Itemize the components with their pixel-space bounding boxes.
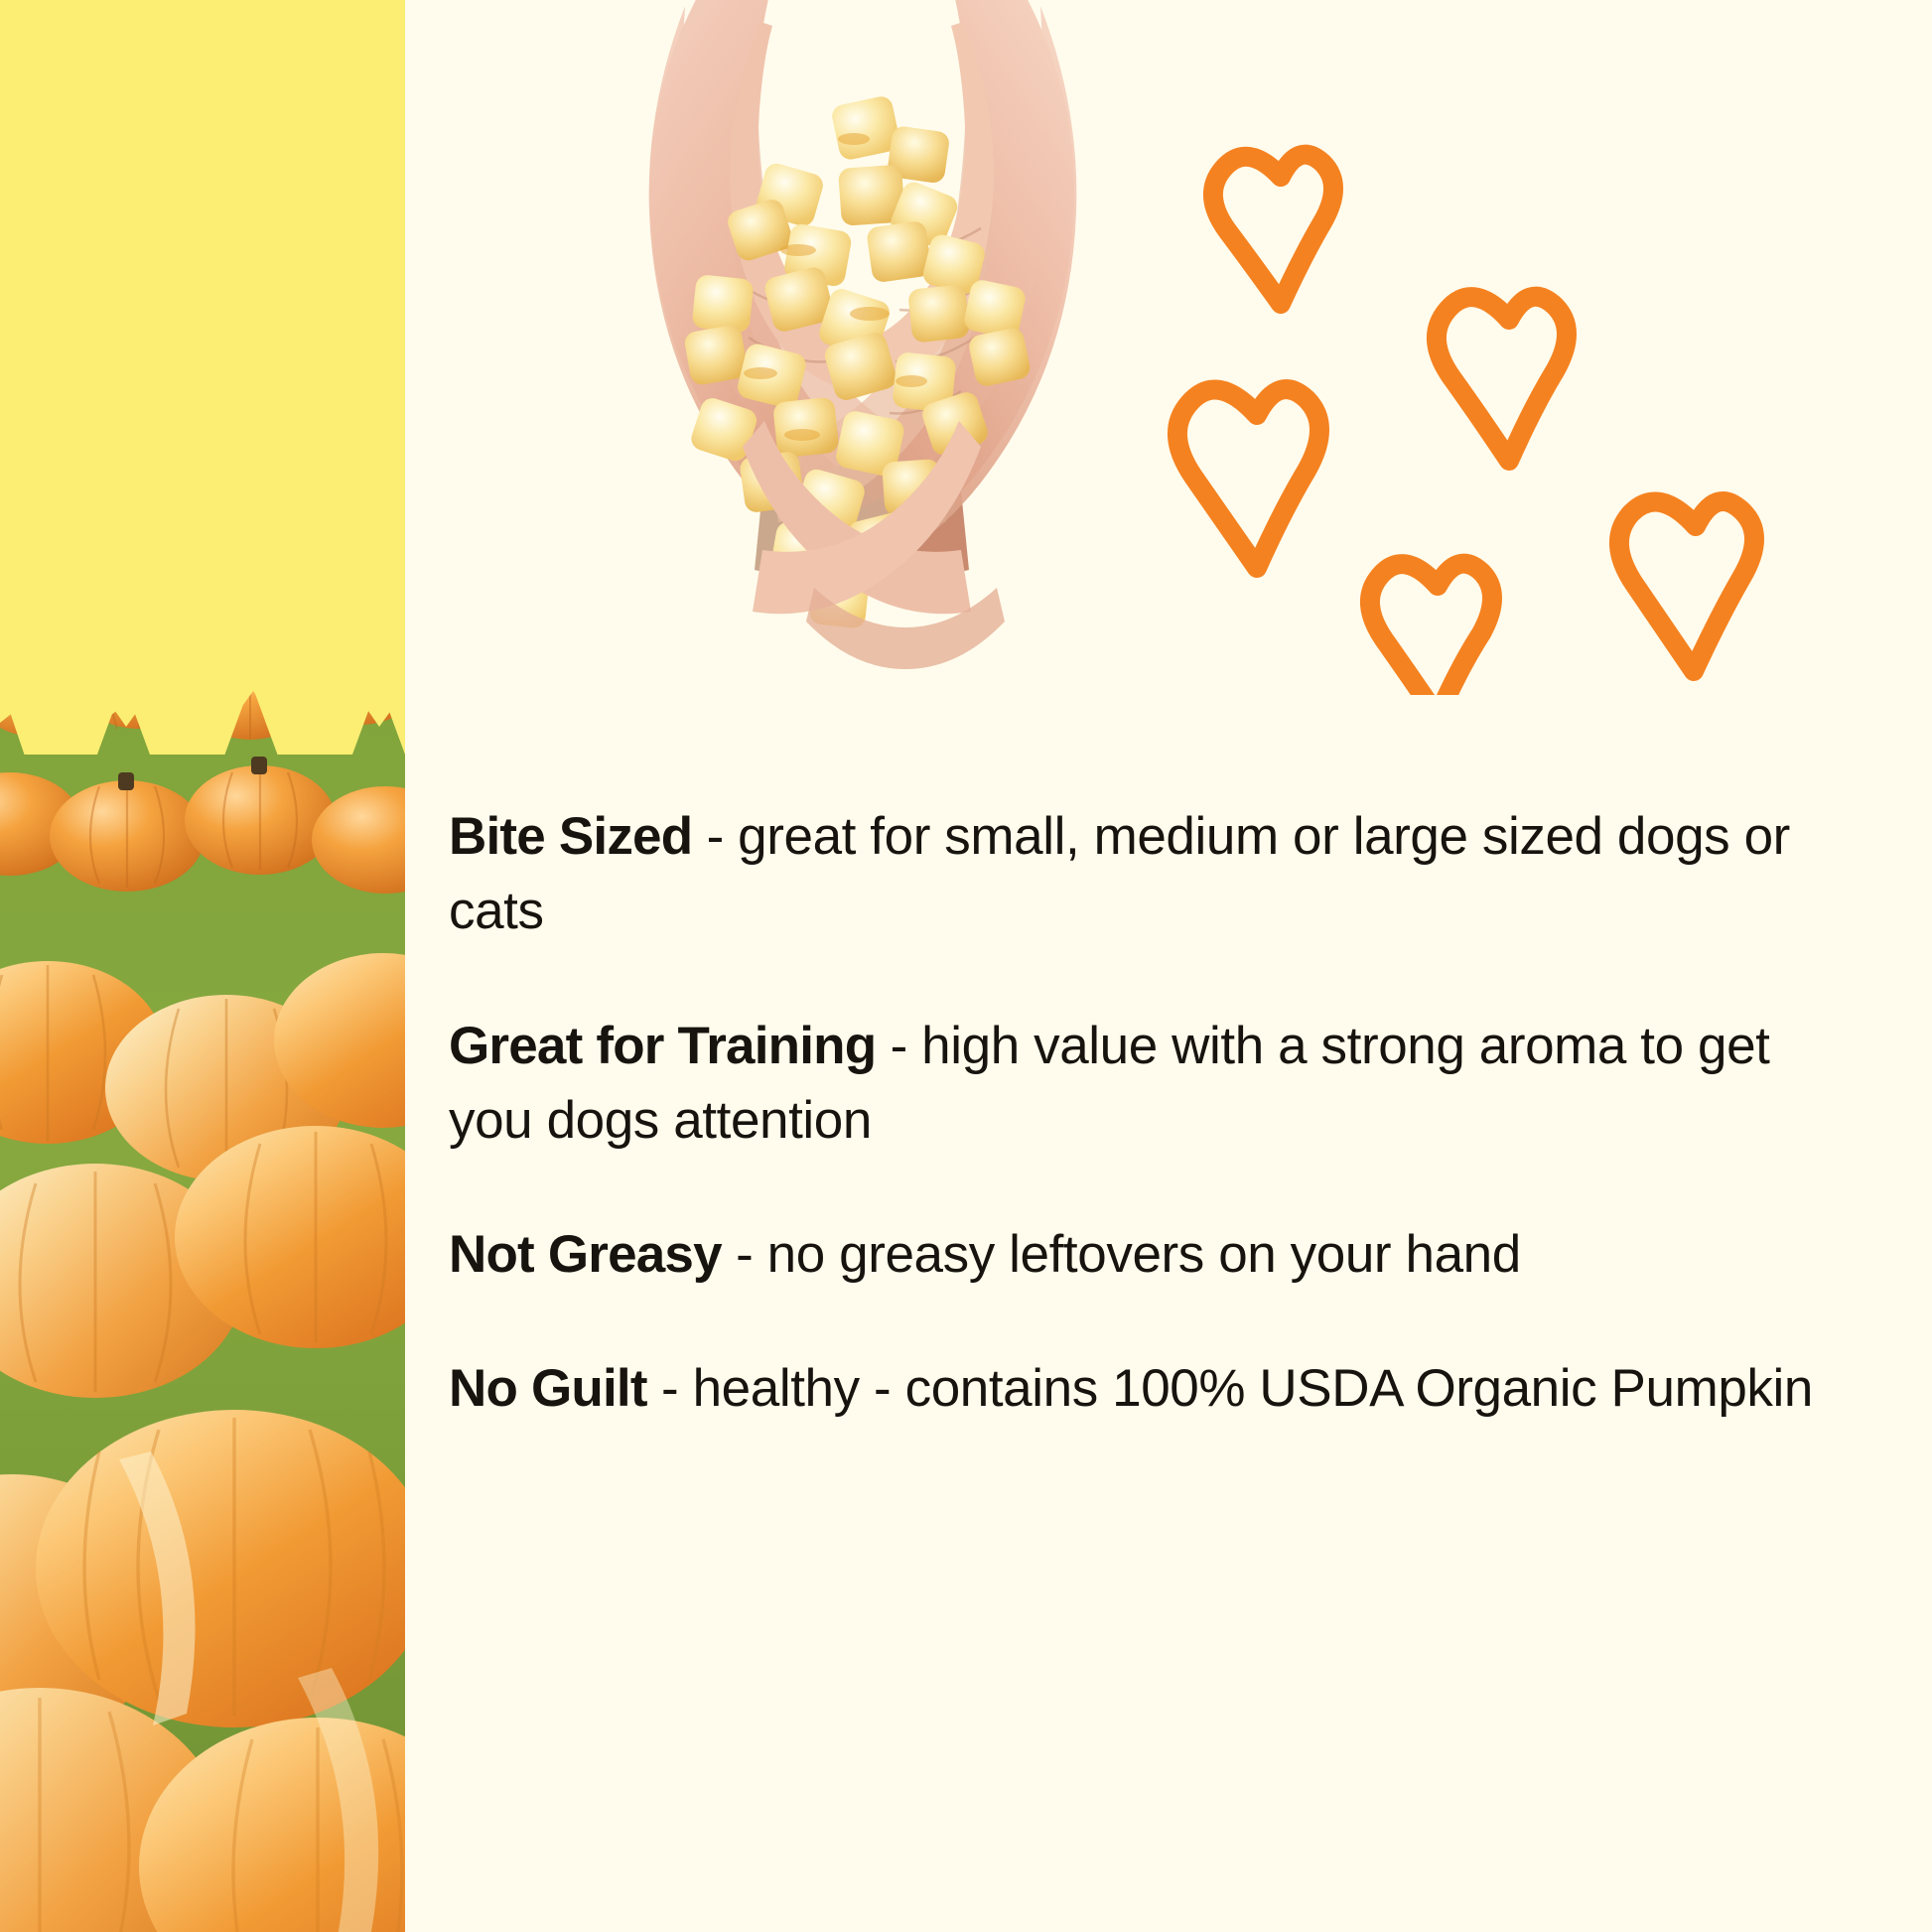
heart-icon-4 [1370, 564, 1492, 695]
feature-4-body: - healthy - contains 100% USDA Organic P… [647, 1359, 1813, 1418]
feature-3-body: - no greasy leftovers on your hand [722, 1225, 1521, 1284]
feature-item-2: Great for Training - high value with a s… [449, 1009, 1819, 1159]
feature-2-lead: Great for Training [449, 1017, 876, 1075]
feature-item-4: No Guilt - healthy - contains 100% USDA … [449, 1351, 1819, 1426]
main-content-area: Bite Sized - great for small, medium or … [405, 0, 1932, 1932]
heart-icon-5 [1619, 501, 1754, 671]
feature-list: Bite Sized - great for small, medium or … [449, 747, 1859, 1427]
feature-item-3: Not Greasy - no greasy leftovers on your… [449, 1217, 1819, 1292]
product-infographic: MADE IN USA [0, 0, 1932, 1932]
made-in-usa-badge-panel [0, 0, 405, 755]
hands-holding-pumpkin-treats-photo [445, 0, 1279, 764]
feature-4-lead: No Guilt [449, 1359, 647, 1418]
left-column: MADE IN USA [0, 0, 405, 1932]
feature-item-1: Bite Sized - great for small, medium or … [449, 799, 1819, 949]
feature-1-lead: Bite Sized [449, 807, 692, 866]
feature-3-lead: Not Greasy [449, 1225, 722, 1284]
heart-icon-2 [1437, 297, 1567, 461]
